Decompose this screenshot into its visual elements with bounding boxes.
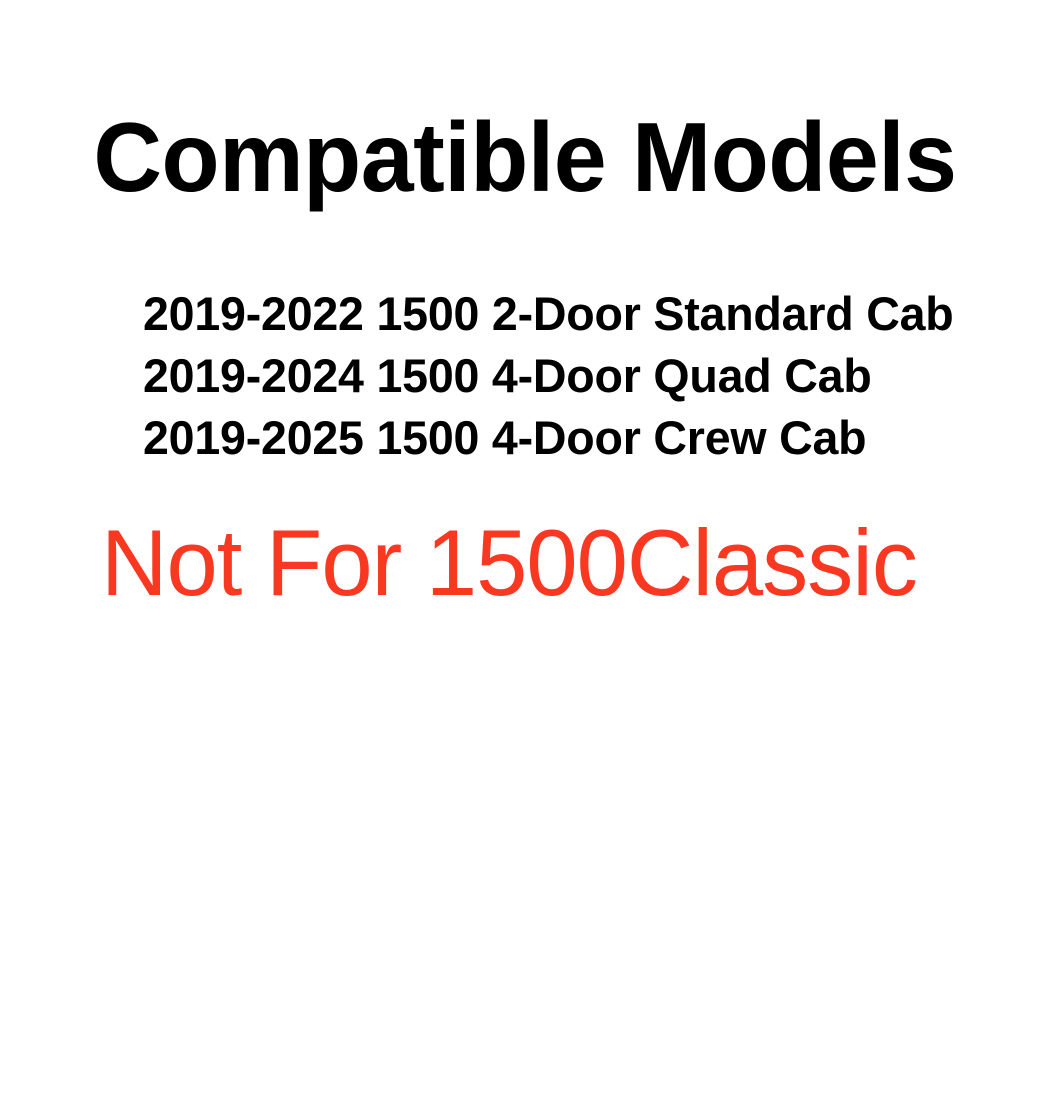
compatible-models-list: 2019-2022 1500 2-Door Standard Cab 2019-…	[143, 283, 1023, 469]
page-title: Compatible Models	[0, 108, 1049, 206]
page-title-text: Compatible Models	[93, 108, 956, 206]
list-item: 2019-2025 1500 4-Door Crew Cab	[143, 407, 1014, 469]
exclusion-notice: Not For 1500Classic	[101, 516, 1001, 610]
list-item: 2019-2024 1500 4-Door Quad Cab	[143, 345, 1014, 407]
blank-region	[0, 625, 1049, 1101]
list-item: 2019-2022 1500 2-Door Standard Cab	[143, 283, 1014, 345]
exclusion-notice-text: Not For 1500Classic	[101, 516, 917, 610]
compatibility-card: Compatible Models 2019-2022 1500 2-Door …	[0, 0, 1049, 1101]
